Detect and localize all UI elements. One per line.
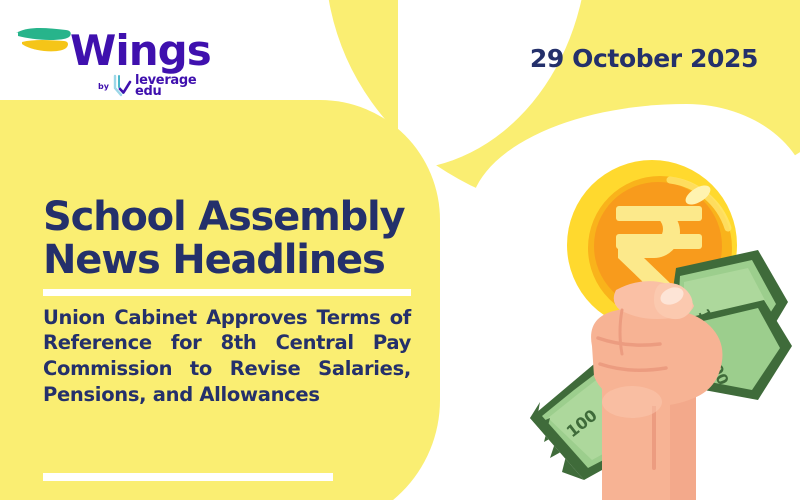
headline-summary: Union Cabinet Approves Terms of Referenc…: [43, 305, 411, 408]
wings-logo[interactable]: Wings by leverage edu: [14, 14, 224, 94]
page-title-line2: News Headlines: [43, 239, 411, 282]
news-headline-poster: Wings by leverage edu 29 October 2025 Sc…: [0, 0, 800, 500]
fist-holding-rupee-money-illustration: 100 100 100: [520, 150, 800, 500]
headline-block: School Assembly News Headlines Union Cab…: [43, 196, 411, 408]
by-label: by: [98, 82, 109, 91]
leverage-edu-lockup: by leverage edu: [98, 74, 196, 98]
edu-label: edu: [135, 86, 196, 97]
title-divider: [43, 289, 411, 296]
page-title-line1: School Assembly: [43, 196, 411, 239]
leverage-check-icon: [112, 74, 132, 98]
bottom-divider: [43, 473, 333, 481]
wings-wordmark: Wings: [70, 30, 211, 72]
publication-date: 29 October 2025: [530, 44, 758, 73]
